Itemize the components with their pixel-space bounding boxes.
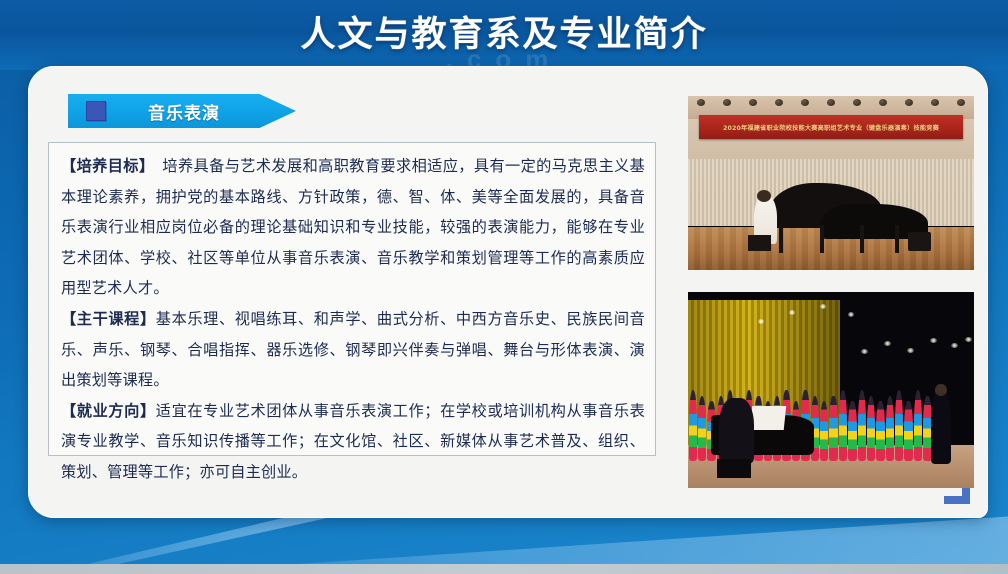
slide-header: 人文与教育系及专业简介 xyxy=(0,0,1008,70)
photo1-ceiling-lights xyxy=(688,97,974,108)
section-body: 培养具备与艺术发展和高职教育要求相适应，具有一定的马克思主义基本理论素养，拥护党… xyxy=(61,157,645,297)
tab-label: 音乐表演 xyxy=(106,99,262,124)
section-core-courses: 【主干课程】基本乐理、视唱练耳、和声学、曲式分析、中西方音乐史、民族民间音乐、声… xyxy=(61,304,645,396)
section-heading: 【培养目标】 xyxy=(61,157,147,175)
program-description-box: 【培养目标】 培养具备与艺术发展和高职教育要求相适应，具有一定的马克思主义基本理… xyxy=(48,142,656,456)
content-card: 音乐表演 【培养目标】 培养具备与艺术发展和高职教育要求相适应，具有一定的马克思… xyxy=(28,66,988,518)
photo2-overhead-lights xyxy=(745,300,874,335)
photo1-pianist-head xyxy=(757,190,771,202)
piano-recital-photo: 2020年福建省职业院校技能大赛高职组艺术专业（键盘乐器演奏）技能竞赛 xyxy=(688,96,974,270)
slide-root: 人文与教育系及专业简介 .com 音乐表演 【培养目标】 培养具备与艺术发展和高… xyxy=(0,0,1008,574)
photo1-side-stool xyxy=(908,232,931,251)
section-training-objective: 【培养目标】 培养具备与艺术发展和高职教育要求相适应，具有一定的马克思主义基本理… xyxy=(61,151,645,304)
page-title: 人文与教育系及专业简介 xyxy=(0,6,1008,57)
photo2-conductor xyxy=(931,386,951,464)
section-employment-direction: 【就业方向】适宜在专业艺术团体从事音乐表演工作；在学校或培训机构从事音乐表演专业… xyxy=(61,396,645,488)
photo1-piano-legs xyxy=(777,225,911,253)
photo2-piano-bench xyxy=(717,459,751,479)
bottom-strip xyxy=(0,564,1008,574)
section-heading: 【主干课程】 xyxy=(61,310,156,328)
square-marker-icon xyxy=(86,101,106,121)
photo2-conductor-head xyxy=(935,384,946,396)
tab-music-performance[interactable]: 音乐表演 xyxy=(68,94,296,128)
choir-performance-photo xyxy=(688,292,974,488)
section-heading: 【就业方向】 xyxy=(61,402,156,420)
photo2-pianist xyxy=(719,398,753,465)
photo1-piano-bench xyxy=(748,235,771,251)
photo1-red-banner: 2020年福建省职业院校技能大赛高职组艺术专业（键盘乐器演奏）技能竞赛 xyxy=(699,115,962,139)
photo2-sheet-music xyxy=(750,406,787,430)
photo1-banner-text: 2020年福建省职业院校技能大赛高职组艺术专业（键盘乐器演奏）技能竞赛 xyxy=(723,123,939,132)
